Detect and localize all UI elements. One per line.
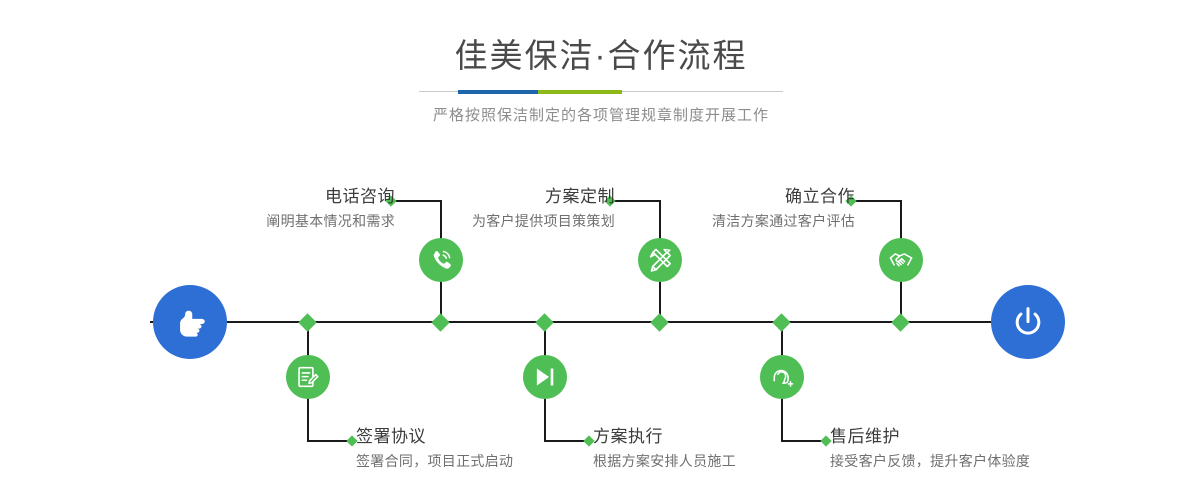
- step-label-after-sales: 售后维护 接受客户反馈，提升客户体验度: [830, 426, 1180, 472]
- axis-marker-step6: [772, 313, 790, 331]
- connector-hline-step5: [852, 200, 901, 202]
- process-timeline: 电话咨询 阐明基本情况和需求 签署协议 签署合同，项目正式启动: [0, 0, 1202, 502]
- timeline-axis: [150, 321, 1050, 323]
- step-label-establish-cooperation: 确立合作 清洁方案通过客户评估: [520, 186, 855, 232]
- axis-marker-step3: [650, 313, 668, 331]
- timeline-end-node: [991, 285, 1065, 359]
- handshake-icon: [888, 247, 914, 273]
- step-title: 确立合作: [520, 186, 855, 208]
- axis-marker-step4: [535, 313, 553, 331]
- phone-call-icon: [428, 247, 454, 273]
- axis-marker-step2: [298, 313, 316, 331]
- pointing-hand-icon: [170, 302, 210, 342]
- document-edit-icon: [295, 364, 321, 390]
- step-desc: 清洁方案通过客户评估: [520, 210, 855, 232]
- pencil-ruler-icon: [647, 247, 673, 273]
- step-icon-sign-agreement: [286, 355, 330, 399]
- step-icon-plan-customization: [638, 238, 682, 282]
- step-icon-plan-execution: [523, 355, 567, 399]
- power-button-icon: [1008, 302, 1048, 342]
- axis-marker-step5: [891, 313, 909, 331]
- cooperation-process-infographic: 佳美保洁·合作流程 严格按照保洁制定的各项管理规章制度开展工作: [0, 0, 1202, 502]
- headset-support-icon: [769, 364, 795, 390]
- step-icon-phone-consult: [419, 238, 463, 282]
- step-icon-after-sales: [760, 355, 804, 399]
- step-title: 售后维护: [830, 426, 1180, 448]
- step-icon-establish-cooperation: [879, 238, 923, 282]
- axis-marker-step1: [431, 313, 449, 331]
- timeline-start-node: [153, 285, 227, 359]
- play-skip-icon: [532, 364, 558, 390]
- step-desc: 接受客户反馈，提升客户体验度: [830, 450, 1180, 472]
- connector-elbow-step5: [900, 200, 902, 240]
